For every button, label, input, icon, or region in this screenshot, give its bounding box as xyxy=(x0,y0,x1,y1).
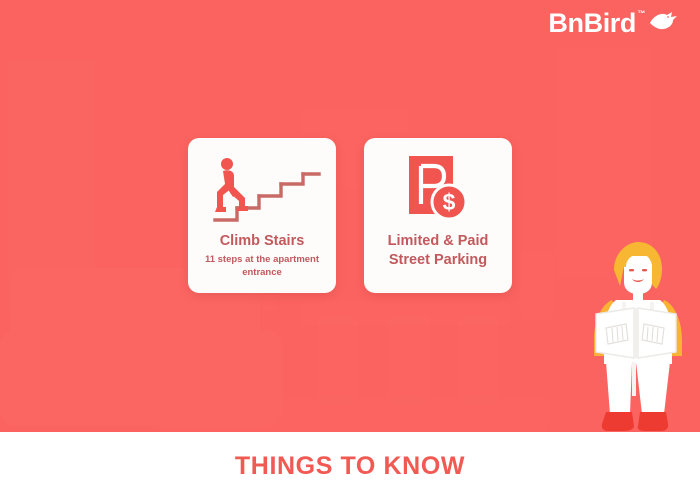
info-card-list: Climb Stairs 11 steps at the apartment e… xyxy=(0,138,700,293)
climb-stairs-icon xyxy=(203,152,321,230)
svg-text:$: $ xyxy=(443,189,456,215)
brand-logo[interactable]: BnBird ™ xyxy=(548,10,678,37)
info-card-paid-parking[interactable]: $ Limited & Paid Street Parking xyxy=(364,138,512,293)
page-title: THINGS TO KNOW xyxy=(235,452,465,481)
footer-bar: THINGS TO KNOW xyxy=(0,432,700,500)
card-title: Climb Stairs xyxy=(220,232,305,251)
info-card-climb-stairs[interactable]: Climb Stairs 11 steps at the apartment e… xyxy=(188,138,336,293)
card-title: Limited & Paid Street Parking xyxy=(374,232,502,270)
paid-parking-icon: $ xyxy=(401,152,475,230)
hero-section: BnBird ™ xyxy=(0,0,700,432)
trademark-icon: ™ xyxy=(637,10,645,18)
card-subtitle: 11 steps at the apartment entrance xyxy=(198,254,326,280)
brand-name-text: BnBird xyxy=(548,8,636,38)
bird-icon xyxy=(648,11,678,36)
brand-name: BnBird ™ xyxy=(548,10,636,37)
slide-root: BnBird ™ xyxy=(0,0,700,500)
